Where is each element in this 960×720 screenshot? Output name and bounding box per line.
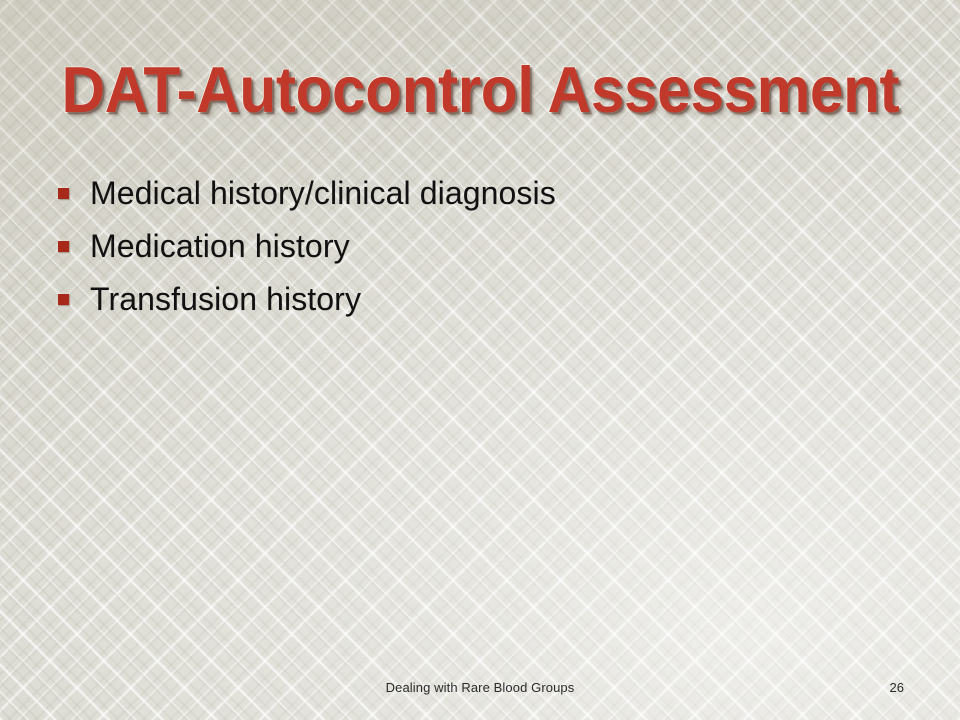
list-item: Medical history/clinical diagnosis <box>58 175 858 228</box>
square-bullet-icon <box>58 294 69 305</box>
square-bullet-icon <box>58 241 69 252</box>
list-item: Transfusion history <box>58 281 858 334</box>
slide-footer: Dealing with Rare Blood Groups 26 <box>0 680 960 698</box>
list-item-label: Medical history/clinical diagnosis <box>90 175 556 212</box>
square-bullet-icon <box>58 188 69 199</box>
list-item-label: Medication history <box>90 228 350 265</box>
title-area: DAT-Autocontrol Assessment <box>0 50 960 128</box>
footer-deck-title: Dealing with Rare Blood Groups <box>0 680 960 695</box>
footer-page-number: 26 <box>890 680 904 695</box>
list-item: Medication history <box>58 228 858 281</box>
slide-canvas: DAT-Autocontrol Assessment Medical histo… <box>0 0 960 720</box>
bullet-list: Medical history/clinical diagnosis Medic… <box>58 175 858 334</box>
page-title: DAT-Autocontrol Assessment <box>61 57 899 122</box>
list-item-label: Transfusion history <box>90 281 361 318</box>
